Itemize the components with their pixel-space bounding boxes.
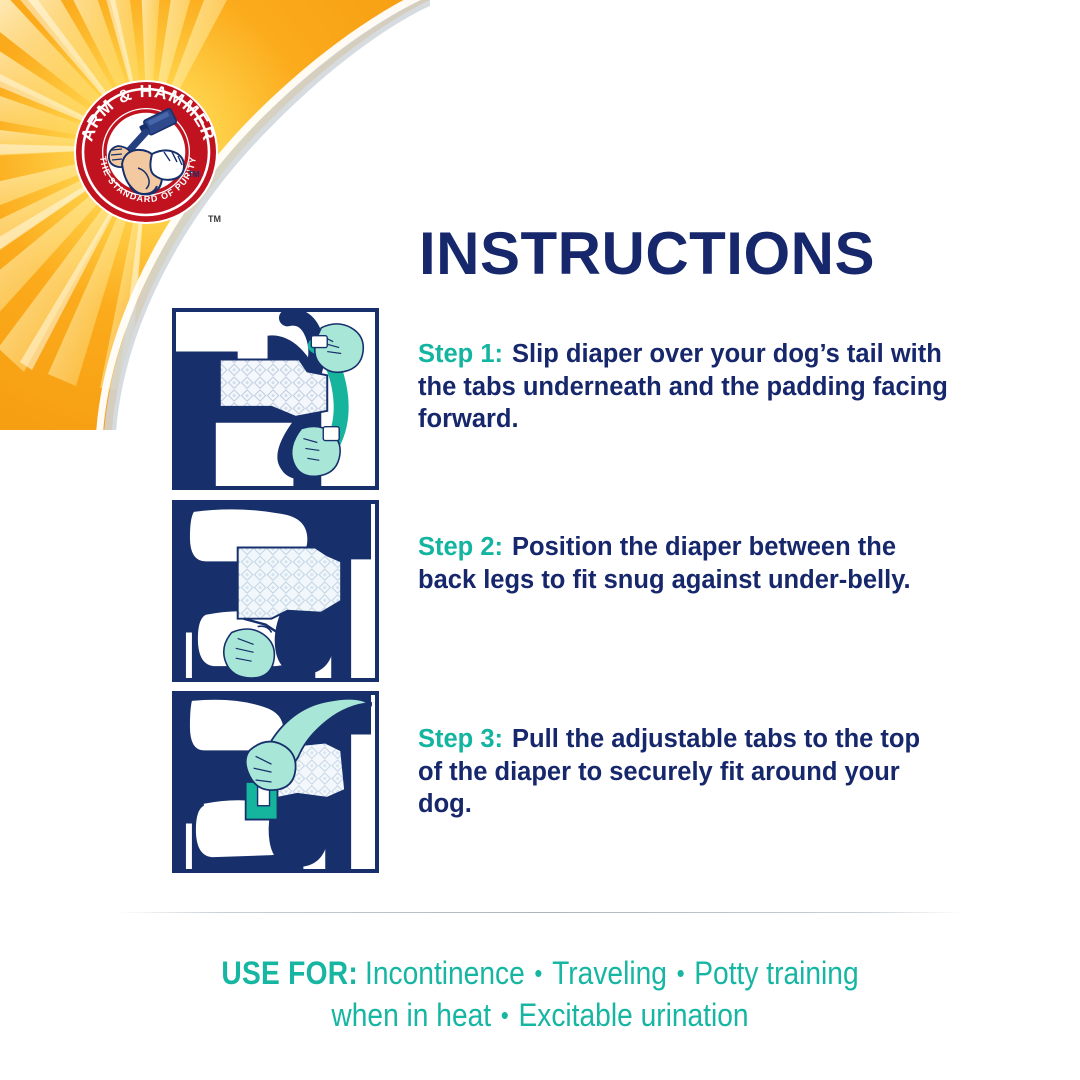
step-3-illustration-panel — [172, 691, 379, 873]
hand-lower — [292, 426, 341, 476]
step-3-label: Step 3: — [418, 725, 503, 753]
use-for-item-incontinence: Incontinence — [365, 955, 525, 991]
use-for-section: USE FOR:Incontinence•Traveling•Potty tra… — [65, 952, 1015, 1036]
use-for-line-1: USE FOR:Incontinence•Traveling•Potty tra… — [65, 952, 1015, 994]
use-for-item-excitable-urination: Excitable urination — [518, 997, 748, 1033]
logo-trademark: TM — [208, 214, 221, 224]
use-for-item-traveling: Traveling — [552, 955, 667, 991]
bullet-separator-icon: • — [534, 958, 542, 988]
step-2-label: Step 2: — [418, 533, 503, 561]
step-2-text: Step 2:Position the diaper between the b… — [418, 531, 948, 596]
step-2-illustration-panel — [172, 500, 379, 682]
use-for-label: USE FOR: — [221, 955, 358, 991]
section-divider — [118, 912, 963, 913]
page-title: INSTRUCTIONS — [419, 222, 1039, 285]
bullet-separator-icon: • — [677, 958, 685, 988]
arm-and-hammer-logo: ARM & HAMMER THE STANDARD OF PURITY — [68, 72, 228, 232]
step-1-text: Step 1:Slip diaper over your dog’s tail … — [418, 338, 948, 436]
step-3-text: Step 3:Pull the adjustable tabs to the t… — [418, 723, 948, 821]
emblem-trademark: TM — [188, 170, 200, 179]
use-for-line-2: when in heat•Excitable urination — [65, 994, 1015, 1036]
bullet-separator-icon: • — [501, 1000, 509, 1030]
step-1-illustration-panel — [172, 308, 379, 490]
step-1-label: Step 1: — [418, 340, 503, 368]
use-for-item-when-in-heat: when in heat — [331, 997, 491, 1033]
use-for-item-potty-training: Potty training — [694, 955, 858, 991]
